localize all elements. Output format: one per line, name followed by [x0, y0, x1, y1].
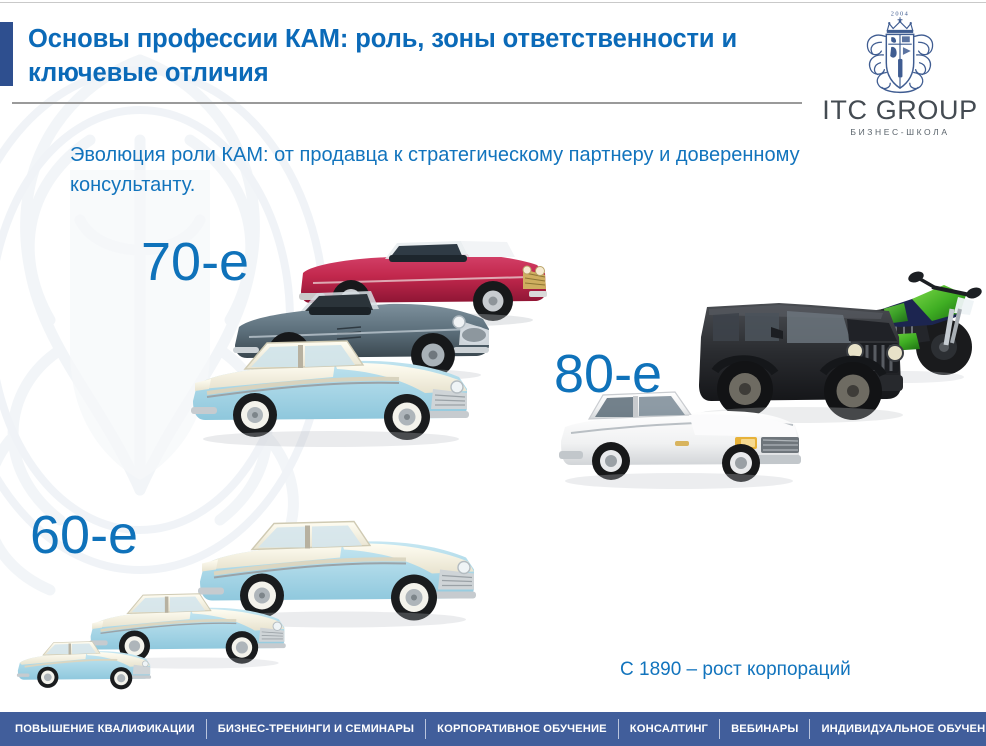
- vehicle-group-80: [555, 255, 986, 510]
- blue-cream-classic-car-small: [14, 630, 154, 700]
- bottom-navigation-bar[interactable]: ПОВЫШЕНИЕ КВАЛИФИКАЦИИ БИЗНЕС-ТРЕНИНГИ И…: [0, 712, 986, 746]
- vehicle-group-70: [185, 225, 565, 425]
- title-divider: [12, 102, 802, 104]
- presentation-slide: Основы профессии КАМ: роль, зоны ответст…: [0, 0, 986, 746]
- timeline-caption: С 1890 – рост корпораций: [620, 659, 851, 681]
- svg-text:2004: 2004: [891, 10, 910, 17]
- blue-cream-classic-car: [185, 327, 475, 452]
- page-title: Основы профессии КАМ: роль, зоны ответст…: [28, 22, 798, 91]
- slide-subtitle: Эволюция роли КАМ: от продавца к стратег…: [70, 140, 860, 201]
- nav-item-corporate-training[interactable]: КОРПОРАТИВНОЕ ОБУЧЕНИЕ: [426, 712, 618, 746]
- white-sedan-car: [555, 375, 805, 500]
- top-divider: [0, 2, 986, 3]
- brand-logo: 2004: [820, 8, 980, 140]
- nav-item-business-trainings[interactable]: БИЗНЕС-ТРЕНИНГИ И СЕМИНАРЫ: [207, 712, 425, 746]
- nav-item-individual-training[interactable]: ИНДИВИДУАЛЬНОЕ ОБУЧЕНИЕ: [810, 712, 986, 746]
- logo-wordmark: ITC GROUP: [820, 97, 980, 124]
- nav-item-webinars[interactable]: ВЕБИНАРЫ: [720, 712, 809, 746]
- heraldic-crest-icon: 2004: [850, 8, 950, 96]
- nav-item-consulting[interactable]: КОНСАЛТИНГ: [619, 712, 719, 746]
- title-accent-bar: [0, 22, 13, 86]
- logo-tagline: БИЗНЕС-ШКОЛА: [820, 127, 980, 137]
- nav-item-professional-development[interactable]: ПОВЫШЕНИЕ КВАЛИФИКАЦИИ: [4, 712, 206, 746]
- vehicle-group-60: [0, 500, 480, 690]
